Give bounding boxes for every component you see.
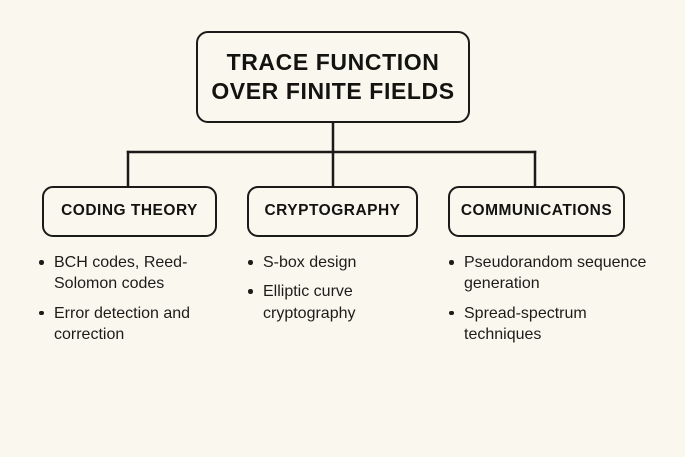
bullet-item: Pseudorandom sequence generation — [446, 252, 651, 295]
bullet-dot-icon — [449, 260, 454, 265]
bullet-item-text: Error detection and correction — [54, 305, 190, 343]
bullet-item: Spread-spectrum techniques — [446, 303, 651, 346]
branch-node-label: CRYPTOGRAPHY — [264, 202, 400, 220]
root-node-label-line1: TRACE FUNCTION — [227, 49, 440, 75]
branch-bullet-list-communications: Pseudorandom sequence generation Spread-… — [446, 252, 651, 345]
bullet-item-text: Elliptic curve cryptography — [263, 283, 356, 321]
branch-node-cryptography: CRYPTOGRAPHY — [247, 186, 418, 237]
root-node-label: TRACE FUNCTION OVER FINITE FIELDS — [211, 48, 454, 105]
bullet-dot-icon — [39, 260, 44, 265]
bullet-dot-icon — [449, 311, 454, 316]
bullet-item: Elliptic curve cryptography — [245, 281, 427, 324]
bullet-item-text: S-box design — [263, 254, 356, 271]
branch-node-coding-theory: CODING THEORY — [42, 186, 217, 237]
bullet-dot-icon — [248, 289, 253, 294]
branch-node-label: COMMUNICATIONS — [461, 202, 612, 220]
branch-bullet-list-cryptography: S-box design Elliptic curve cryptography — [245, 252, 427, 324]
bullet-item: Error detection and correction — [36, 303, 222, 346]
root-node-label-line2: OVER FINITE FIELDS — [211, 78, 454, 104]
bullet-item-text: BCH codes, Reed-Solomon codes — [54, 254, 187, 292]
bullet-item-text: Pseudorandom sequence generation — [464, 254, 646, 292]
bullet-dot-icon — [39, 311, 44, 316]
branch-bullet-list-coding-theory: BCH codes, Reed-Solomon codes Error dete… — [36, 252, 222, 345]
bullet-item-text: Spread-spectrum techniques — [464, 305, 587, 343]
root-node: TRACE FUNCTION OVER FINITE FIELDS — [196, 31, 470, 123]
diagram-canvas: TRACE FUNCTION OVER FINITE FIELDS CODING… — [0, 0, 685, 457]
bullet-item: S-box design — [245, 252, 427, 273]
bullet-item: BCH codes, Reed-Solomon codes — [36, 252, 222, 295]
bullet-dot-icon — [248, 260, 253, 265]
branch-node-label: CODING THEORY — [61, 202, 198, 220]
branch-node-communications: COMMUNICATIONS — [448, 186, 625, 237]
